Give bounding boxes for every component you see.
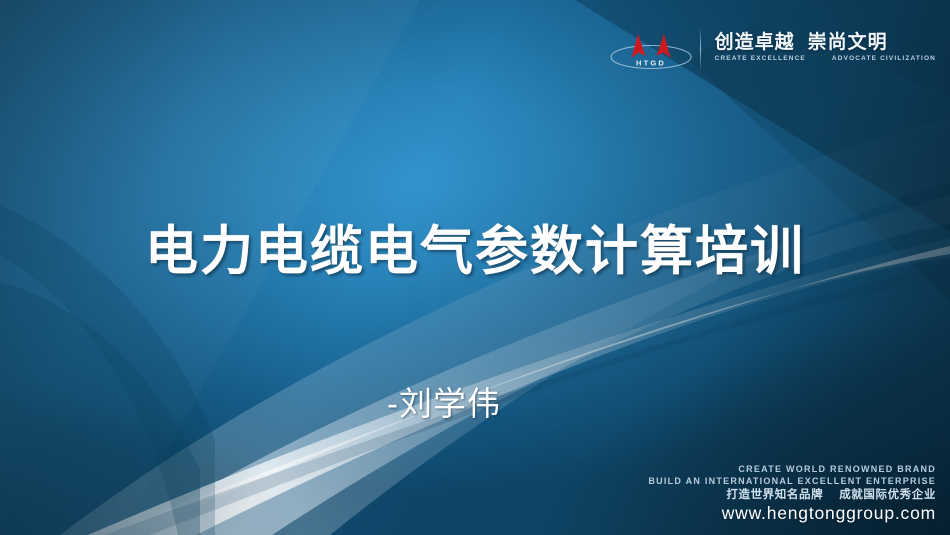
footer-tagline-en-line1: CREATE WORLD RENOWNED BRAND — [648, 465, 936, 474]
slide-presenter: -刘学伟 — [0, 377, 950, 425]
brand-slogan-cn-first: 创造卓越 — [715, 32, 795, 53]
brand-slogan-cn-second: 崇尚文明 — [808, 32, 888, 53]
footer-website-url[interactable]: www.hengtonggroup.com — [648, 505, 936, 523]
slide-title: 电力电缆电气参数计算培训 — [0, 222, 950, 281]
footer-tagline-cn-first: 打造世界知名品牌 — [726, 489, 823, 501]
slide-footer: CREATE WORLD RENOWNED BRAND BUILD AN INT… — [648, 465, 936, 522]
presentation-slide: HTGD 创造卓越崇尚文明 CREATE EXCELLENCE ADVOCATE… — [0, 0, 950, 535]
brand-slogan-english: CREATE EXCELLENCE ADVOCATE CIVILIZATION — [715, 56, 936, 63]
brand-slogan-en-second: ADVOCATE CIVILIZATION — [832, 56, 936, 63]
footer-tagline-cn: 打造世界知名品牌成就国际优秀企业 — [648, 490, 936, 502]
hengtong-logo-wordmark: HTGD — [636, 59, 666, 68]
brand-divider — [700, 28, 701, 70]
brand-slogan-en-first: CREATE EXCELLENCE — [715, 56, 806, 63]
brand-header: HTGD 创造卓越崇尚文明 CREATE EXCELLENCE ADVOCATE… — [608, 24, 936, 74]
brand-slogan: 创造卓越崇尚文明 CREATE EXCELLENCE ADVOCATE CIVI… — [715, 33, 936, 64]
footer-tagline-en-line2: BUILD AN INTERNATIONAL EXCELLENT ENTERPR… — [648, 477, 936, 486]
hengtong-logo: HTGD — [608, 24, 694, 74]
brand-slogan-chinese: 创造卓越崇尚文明 — [715, 33, 936, 53]
hengtong-logo-icon: HTGD — [608, 24, 694, 74]
footer-tagline-cn-second: 成就国际优秀企业 — [839, 489, 936, 501]
